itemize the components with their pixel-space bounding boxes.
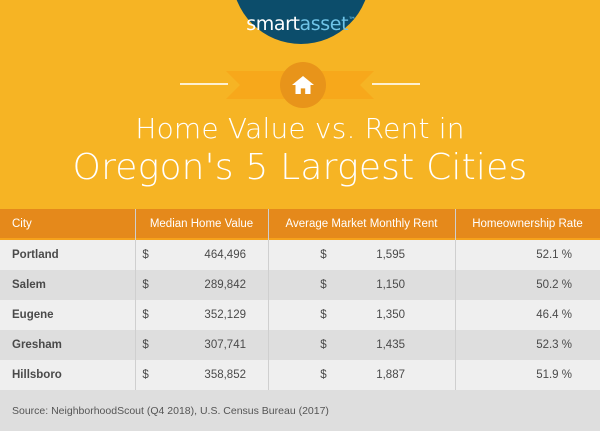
value-text: 289,842 [204,279,246,291]
column-header-median-home-value: Median Home Value [135,209,268,238]
currency-symbol: $ [142,339,148,351]
banner-decoration [0,62,600,108]
cell-homeownership-rate: 46.4 % [455,300,600,330]
source-footer: Source: NeighborhoodScout (Q4 2018), U.S… [0,390,600,431]
currency-symbol: $ [320,279,326,291]
column-header-homeownership-rate: Homeownership Rate [455,209,600,238]
smartasset-logo-badge: smartasset™ [232,0,370,44]
table-row: Eugene $352,129 $1,350 46.4 % [0,300,600,330]
page-title-line2: Oregon's 5 Largest Cities [0,147,600,188]
cell-city: Portland [0,240,135,270]
cell-median-home-value: $352,129 [135,300,268,330]
cell-homeownership-rate: 51.9 % [455,360,600,390]
value-text: 464,496 [204,249,246,261]
currency-symbol: $ [320,369,326,381]
currency-symbol: $ [142,279,148,291]
table-header-row: City Median Home Value Average Market Mo… [0,209,600,240]
currency-symbol: $ [320,309,326,321]
home-icon-circle [280,62,326,108]
cell-homeownership-rate: 52.3 % [455,330,600,360]
currency-symbol: $ [142,249,148,261]
source-text: Source: NeighborhoodScout (Q4 2018), U.S… [0,405,329,417]
cell-avg-rent: $1,150 [268,270,455,300]
cell-median-home-value: $464,496 [135,240,268,270]
logo-word-smart: smart [246,13,299,35]
cell-city: Eugene [0,300,135,330]
value-text: 1,887 [376,369,405,381]
currency-symbol: $ [142,369,148,381]
column-header-avg-rent: Average Market Monthly Rent [268,209,455,238]
value-text: 1,350 [376,309,405,321]
value-text: 1,595 [376,249,405,261]
table-row: Hillsboro $358,852 $1,887 51.9 % [0,360,600,390]
cell-avg-rent: $1,435 [268,330,455,360]
logo-wordmark: smartasset™ [246,13,356,44]
page-title-line1: Home Value vs. Rent in [0,112,600,145]
data-table: City Median Home Value Average Market Mo… [0,209,600,390]
cell-median-home-value: $358,852 [135,360,268,390]
row-divider-2 [268,209,269,390]
value-text: 307,741 [204,339,246,351]
logo-word-asset: asset [300,13,349,35]
value-text: 358,852 [204,369,246,381]
value-text: 1,435 [376,339,405,351]
currency-symbol: $ [320,249,326,261]
cell-avg-rent: $1,595 [268,240,455,270]
row-divider-1 [135,209,136,390]
cell-city: Salem [0,270,135,300]
cell-median-home-value: $307,741 [135,330,268,360]
value-text: 352,129 [204,309,246,321]
divider-line-right [372,83,420,85]
currency-symbol: $ [142,309,148,321]
currency-symbol: $ [320,339,326,351]
cell-avg-rent: $1,350 [268,300,455,330]
cell-median-home-value: $289,842 [135,270,268,300]
infographic-page: smartasset™ Home Value vs. Rent in Orego… [0,0,600,431]
cell-city: Gresham [0,330,135,360]
table-row: Portland $464,496 $1,595 52.1 % [0,240,600,270]
home-icon [291,74,315,96]
row-divider-3 [455,209,456,390]
cell-avg-rent: $1,887 [268,360,455,390]
cell-homeownership-rate: 50.2 % [455,270,600,300]
column-header-city: City [0,209,135,238]
trademark-symbol: ™ [348,16,356,25]
divider-line-left [180,83,228,85]
table-row: Salem $289,842 $1,150 50.2 % [0,270,600,300]
cell-homeownership-rate: 52.1 % [455,240,600,270]
value-text: 1,150 [376,279,405,291]
cell-city: Hillsboro [0,360,135,390]
table-row: Gresham $307,741 $1,435 52.3 % [0,330,600,360]
